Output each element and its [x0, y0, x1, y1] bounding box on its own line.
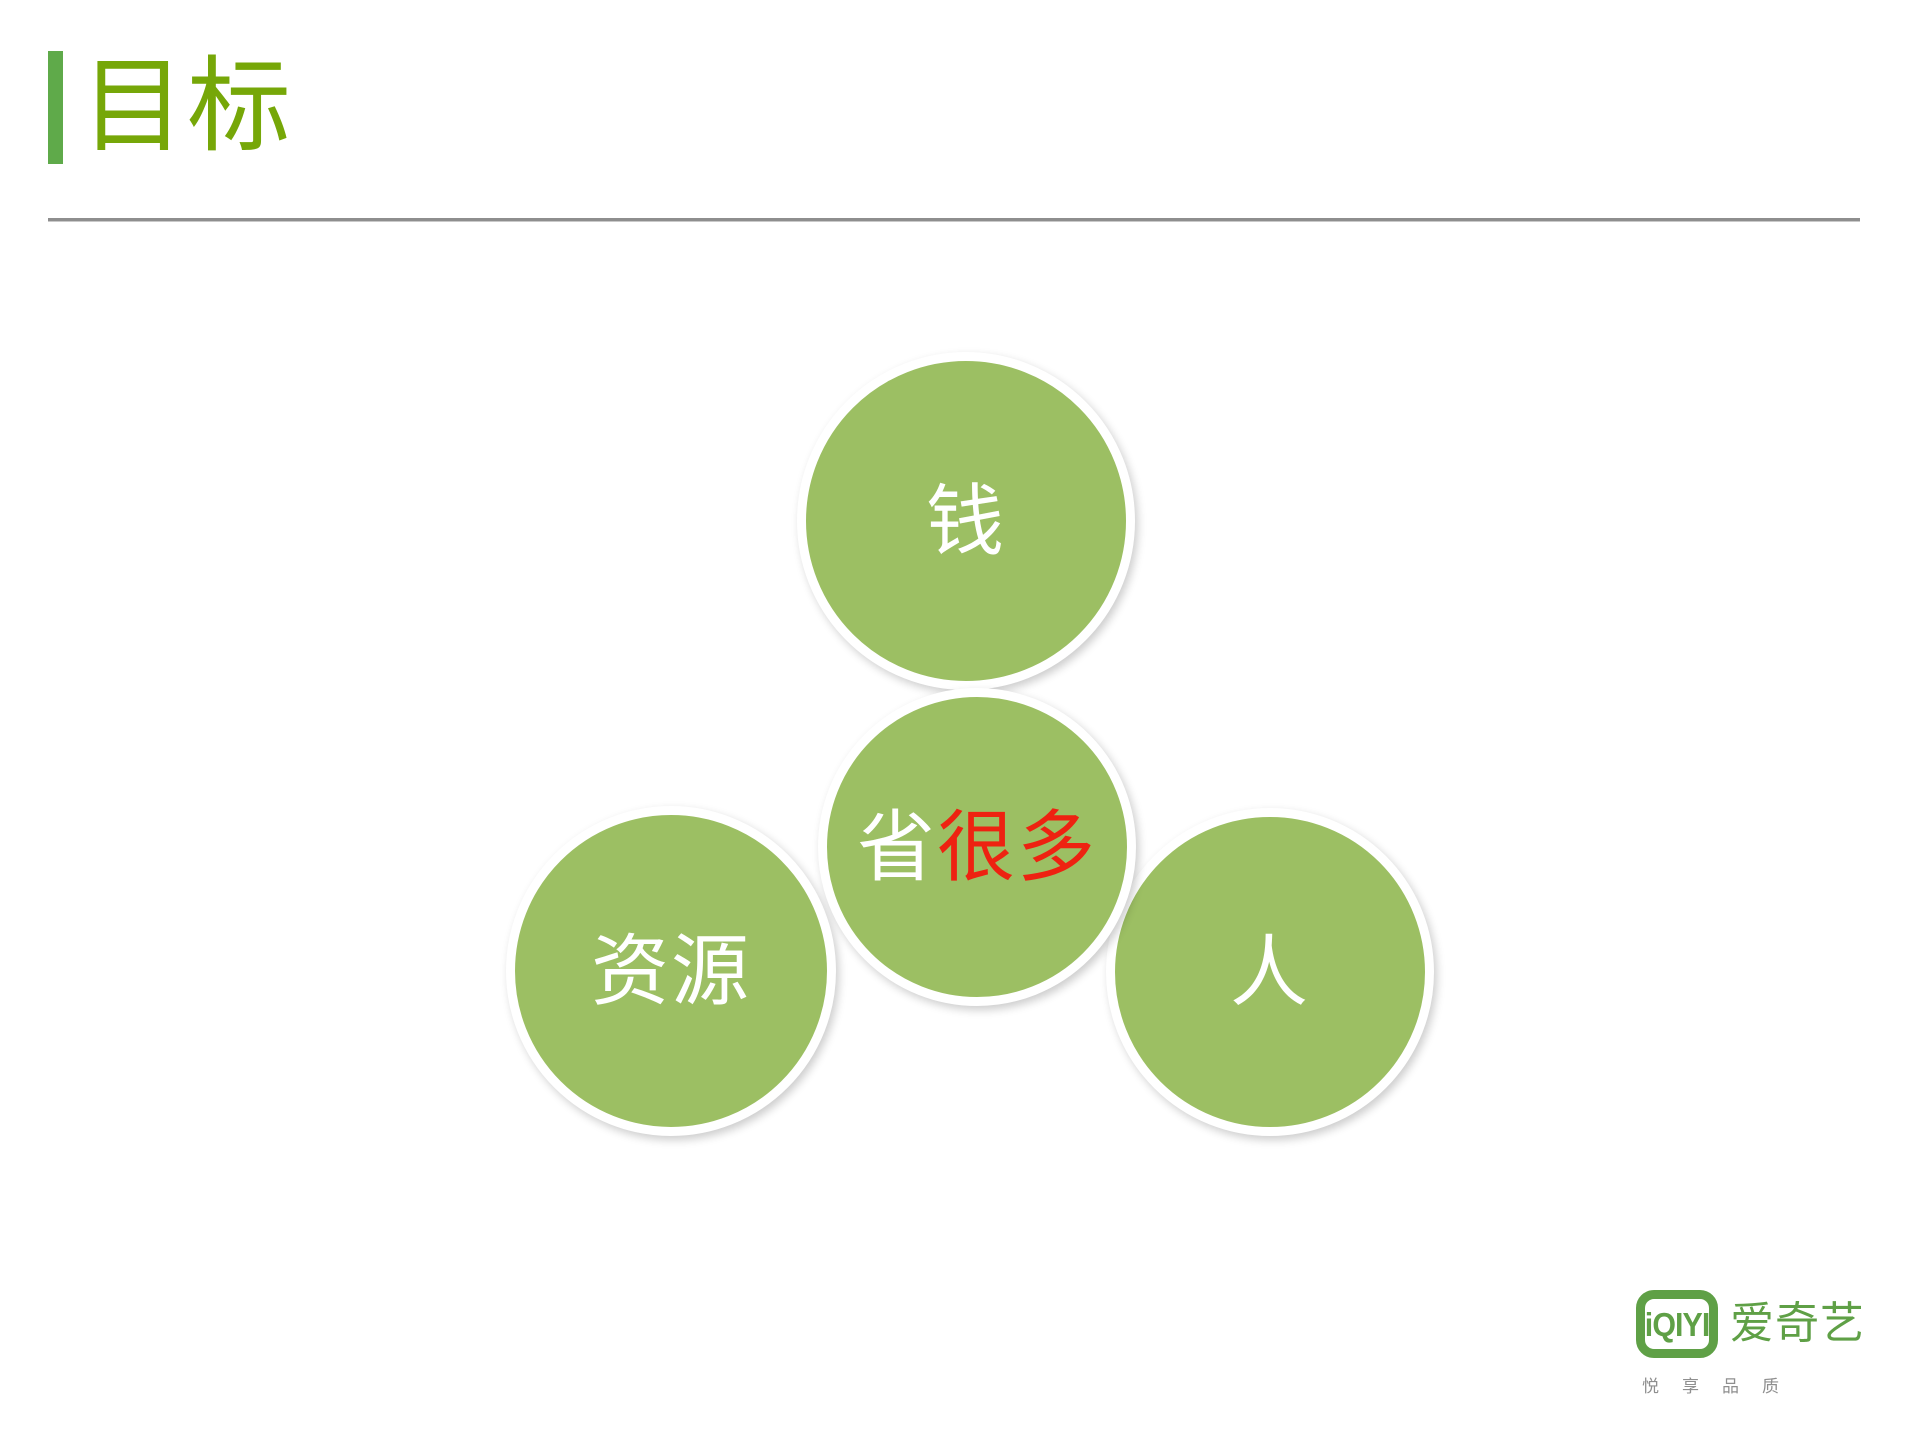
- logo-brand-name: 爱奇艺: [1730, 1302, 1865, 1346]
- bubble-save-label: 省很多: [857, 808, 1097, 886]
- bubble-save[interactable]: 省很多: [818, 688, 1136, 1006]
- bubble-resource[interactable]: 资源: [506, 806, 836, 1136]
- title-accent-bar: [48, 51, 63, 164]
- bubble-people-label: 人: [1230, 933, 1310, 1011]
- title-divider-rule: [48, 218, 1860, 222]
- iqiyi-logo: iQIYI 爱奇艺 悦享品质: [1636, 1290, 1871, 1397]
- logo-row: iQIYI 爱奇艺: [1636, 1290, 1865, 1358]
- bubble-people[interactable]: 人: [1106, 808, 1434, 1136]
- slide-canvas: 目标 钱 省很多 资源 人 iQIYI: [0, 0, 1919, 1439]
- page-title: 目标: [81, 55, 293, 159]
- logo-tagline: 悦享品质: [1642, 1372, 1802, 1397]
- iqiyi-badge-icon: iQIYI: [1636, 1290, 1718, 1358]
- bubble-money[interactable]: 钱: [797, 352, 1135, 690]
- slide-title-block: 目标: [48, 48, 293, 166]
- bubble-save-accent: 很多: [937, 803, 1097, 891]
- logo-badge-text: iQIYI: [1645, 1308, 1710, 1341]
- bubble-money-label: 钱: [926, 482, 1006, 560]
- bubble-resource-label: 资源: [591, 932, 751, 1010]
- goal-diagram: 钱 省很多 资源 人: [0, 0, 1919, 1439]
